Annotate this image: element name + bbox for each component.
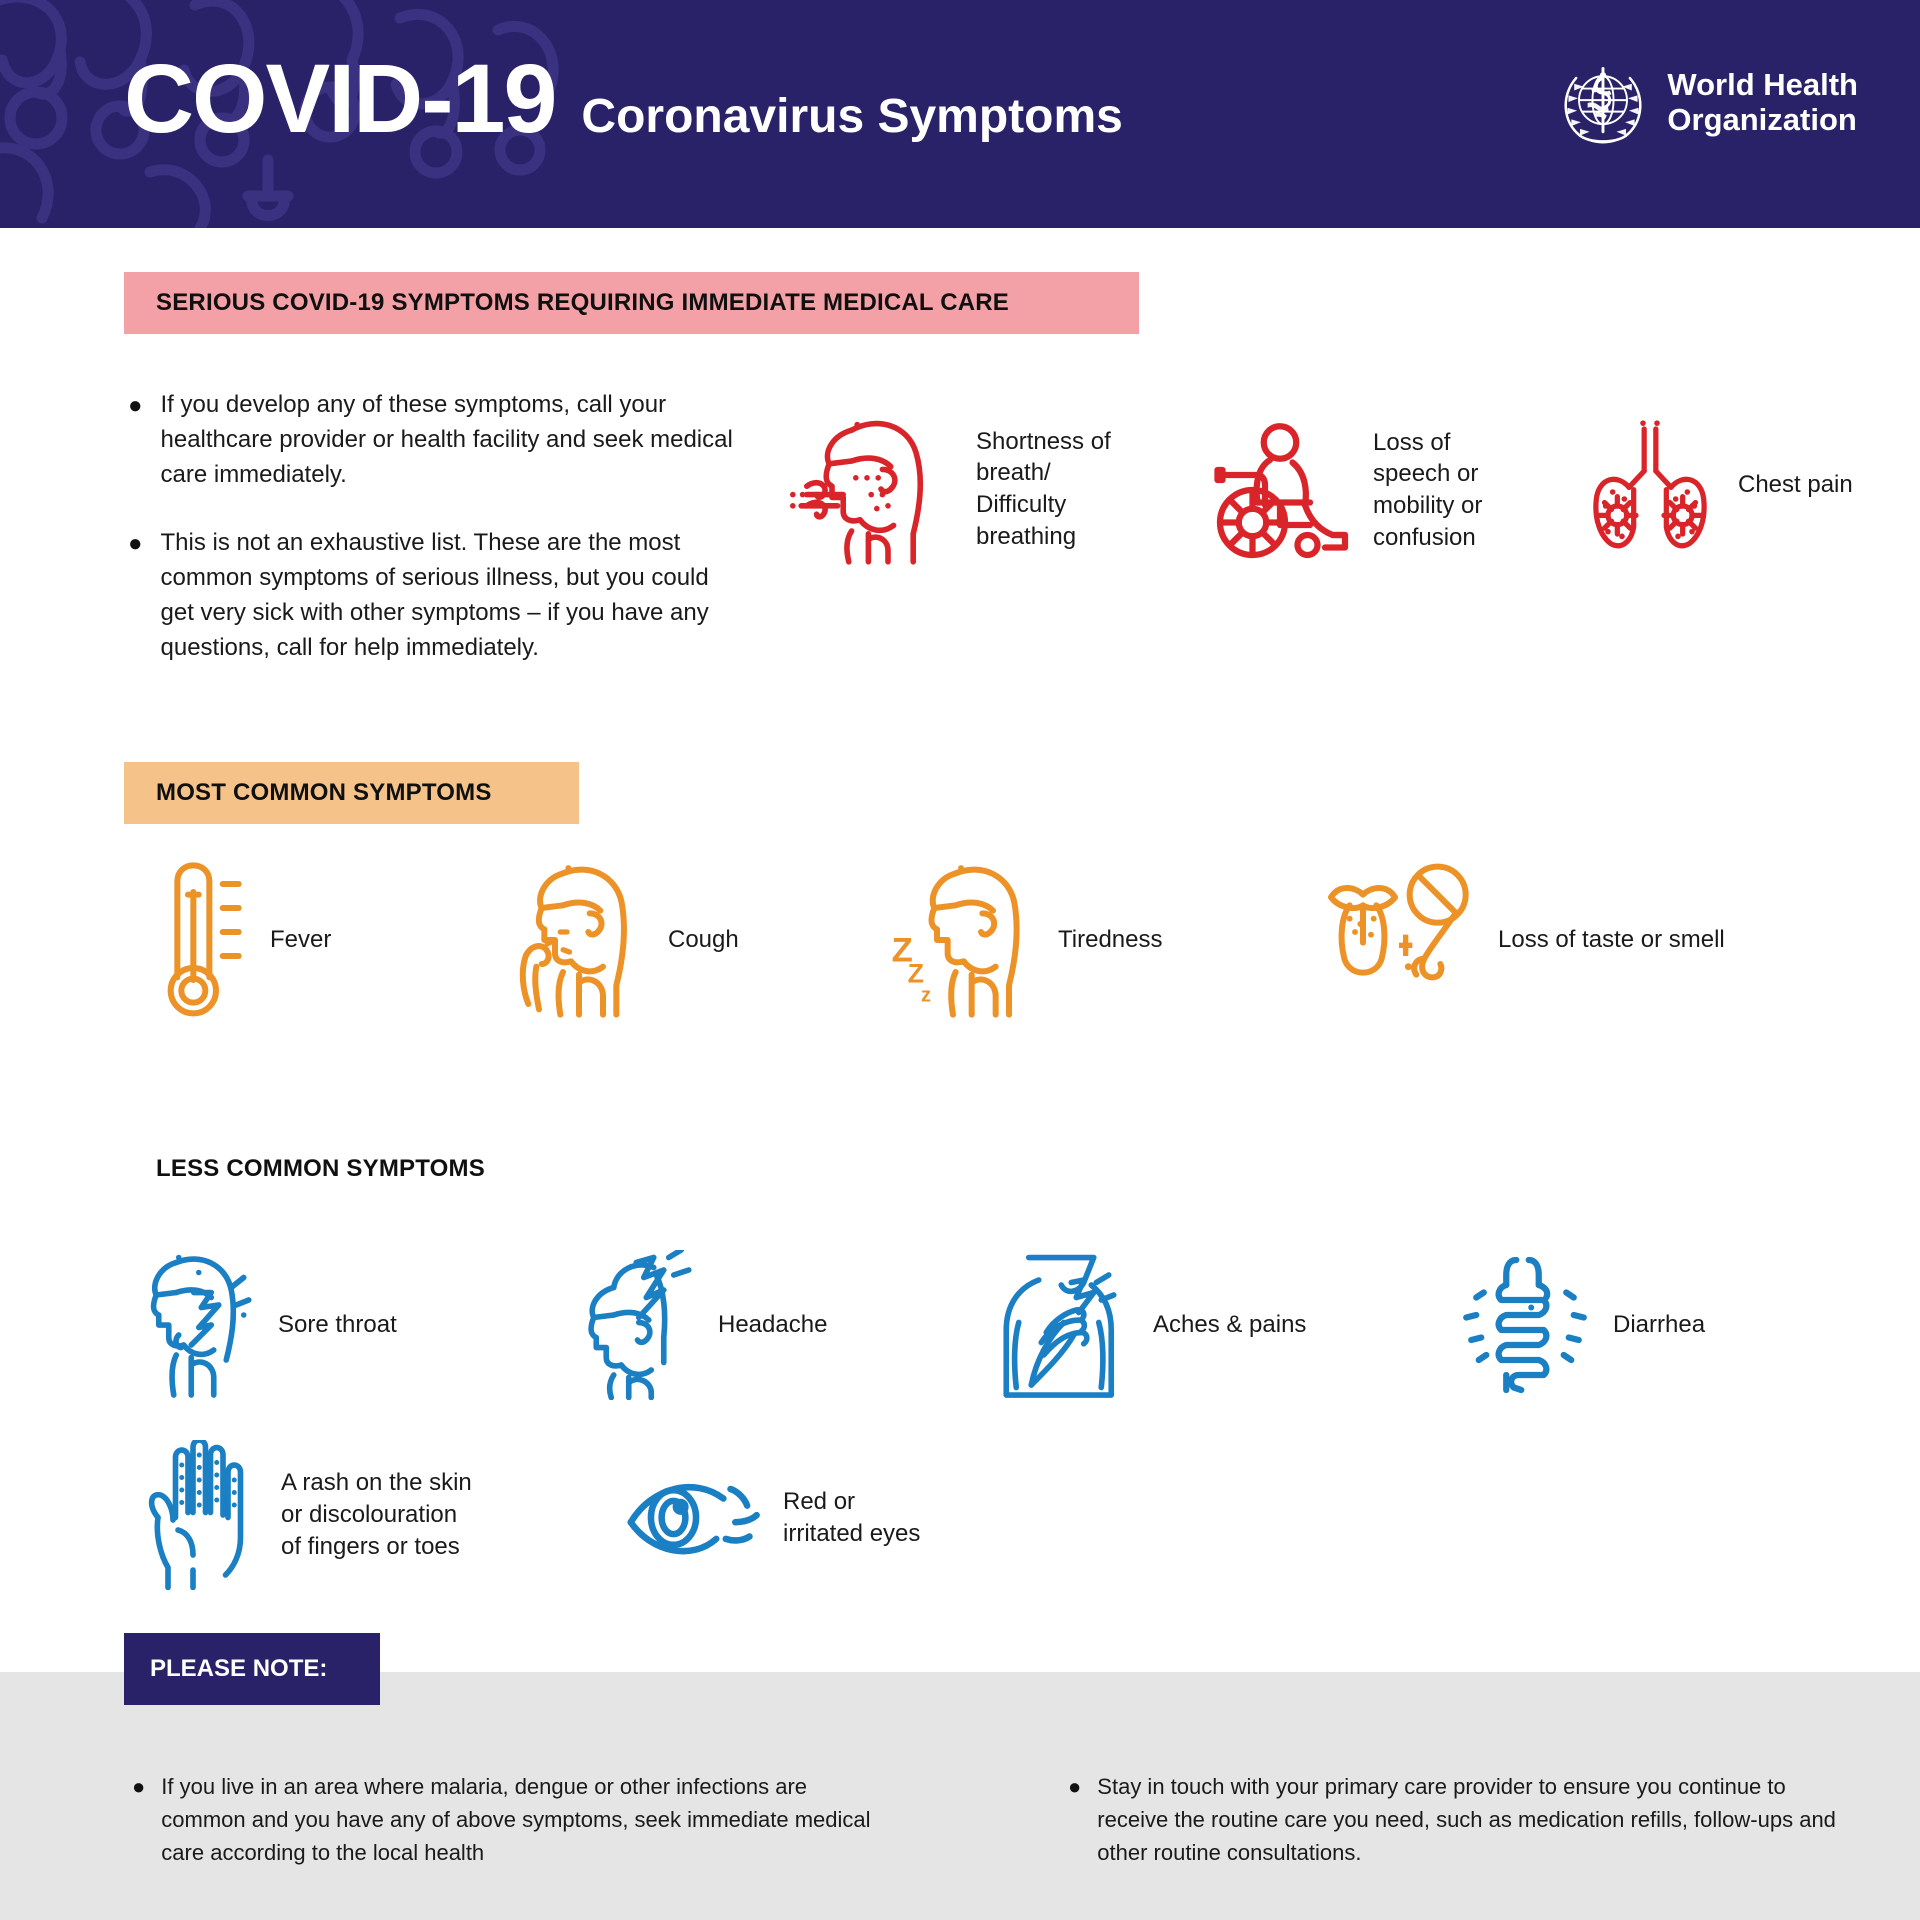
sore-throat-icon: [120, 1250, 260, 1400]
symptom-label: Cough: [668, 924, 739, 956]
serious-symptoms-banner: SERIOUS COVID-19 SYMPTOMS REQUIRING IMME…: [124, 272, 1139, 334]
footer-note-right: ● Stay in touch with your primary care p…: [1068, 1770, 1858, 1869]
serious-bullet-2: This is not an exhaustive list. These ar…: [161, 526, 749, 665]
please-note-badge: PLEASE NOTE:: [124, 1633, 380, 1705]
symptom-cough: Cough: [500, 860, 739, 1020]
symptom-loss-of-speech-mobility: Loss of speech or mobility or confusion: [1205, 415, 1482, 565]
who-logo-text: World Health Organization: [1667, 68, 1858, 137]
symptom-label: Loss of taste or smell: [1498, 924, 1725, 956]
symptom-label: Fever: [270, 924, 331, 956]
symptom-chest-pain: Chest pain: [1580, 415, 1853, 555]
symptom-label: Tiredness: [1058, 924, 1162, 956]
rash-hand-icon: [128, 1440, 263, 1590]
serious-bullet-1: If you develop any of these symptoms, ca…: [161, 388, 749, 492]
symptom-label: Diarrhea: [1613, 1309, 1705, 1341]
svg-text:z: z: [921, 984, 931, 1006]
lungs-virus-icon: [1580, 415, 1720, 555]
less-common-symptoms-banner: LESS COMMON SYMPTOMS: [124, 1138, 559, 1200]
bullet-dot-icon: ●: [128, 388, 143, 492]
tongue-nose-blocked-icon: [1310, 860, 1480, 1020]
symptom-tiredness: Z Z z Tiredness: [890, 860, 1162, 1020]
symptom-sore-throat: Sore throat: [120, 1250, 397, 1400]
symptom-diarrhea: Diarrhea: [1455, 1250, 1705, 1400]
symptom-red-irritated-eyes: Red or irritated eyes: [620, 1470, 920, 1565]
footer-bullet-2: Stay in touch with your primary care pro…: [1097, 1770, 1858, 1869]
page-header: COVID-19 Coronavirus Symptoms: [0, 0, 1920, 228]
symptom-label: A rash on the skin or discolouration of …: [281, 1467, 472, 1562]
symptom-aches-and-pains: Aches & pains: [990, 1250, 1306, 1400]
symptom-label: Red or irritated eyes: [783, 1486, 920, 1549]
intestines-icon: [1455, 1250, 1595, 1400]
body-aches-icon: [990, 1250, 1135, 1400]
symptom-headache: Headache: [560, 1250, 827, 1400]
common-symptoms-banner: MOST COMMON SYMPTOMS: [124, 762, 579, 824]
symptom-label: Aches & pains: [1153, 1309, 1306, 1341]
who-logo-line2: Organization: [1667, 103, 1858, 138]
list-item: ● If you develop any of these symptoms, …: [128, 388, 748, 492]
irritated-eye-icon: [620, 1470, 765, 1565]
headache-icon: [560, 1250, 700, 1400]
coughing-person-icon: [500, 860, 650, 1020]
bullet-dot-icon: ●: [128, 526, 143, 665]
symptom-fever: Fever: [140, 860, 331, 1020]
symptom-loss-of-taste-or-smell: Loss of taste or smell: [1310, 860, 1725, 1020]
footer-bullet-1: If you live in an area where malaria, de…: [161, 1770, 892, 1869]
symptom-label: Headache: [718, 1309, 827, 1341]
footer-note-left: ● If you live in an area where malaria, …: [132, 1770, 892, 1869]
symptom-label: Sore throat: [278, 1309, 397, 1341]
sleeping-person-icon: Z Z z: [890, 860, 1040, 1020]
title-block: COVID-19 Coronavirus Symptoms: [124, 50, 1123, 147]
symptom-label: Shortness of breath/ Difficulty breathin…: [976, 426, 1111, 553]
wheelchair-icon: [1205, 415, 1355, 565]
symptom-rash-on-skin: A rash on the skin or discolouration of …: [128, 1440, 472, 1590]
symptom-label: Loss of speech or mobility or confusion: [1373, 427, 1482, 554]
breathing-difficulty-icon: [790, 405, 958, 573]
who-logo: World Health Organization: [1555, 55, 1858, 151]
page-title: COVID-19: [124, 50, 555, 147]
page-subtitle: Coronavirus Symptoms: [581, 93, 1122, 141]
list-item: ● This is not an exhaustive list. These …: [128, 526, 748, 665]
thermometer-icon: [140, 860, 252, 1020]
bullet-dot-icon: ●: [1068, 1770, 1081, 1869]
who-emblem-icon: [1555, 55, 1651, 151]
bullet-dot-icon: ●: [132, 1770, 145, 1869]
symptom-label: Chest pain: [1738, 469, 1853, 501]
who-logo-line1: World Health: [1667, 68, 1858, 103]
symptom-shortness-of-breath: Shortness of breath/ Difficulty breathin…: [790, 405, 1111, 573]
serious-intro-bullets: ● If you develop any of these symptoms, …: [128, 388, 748, 700]
